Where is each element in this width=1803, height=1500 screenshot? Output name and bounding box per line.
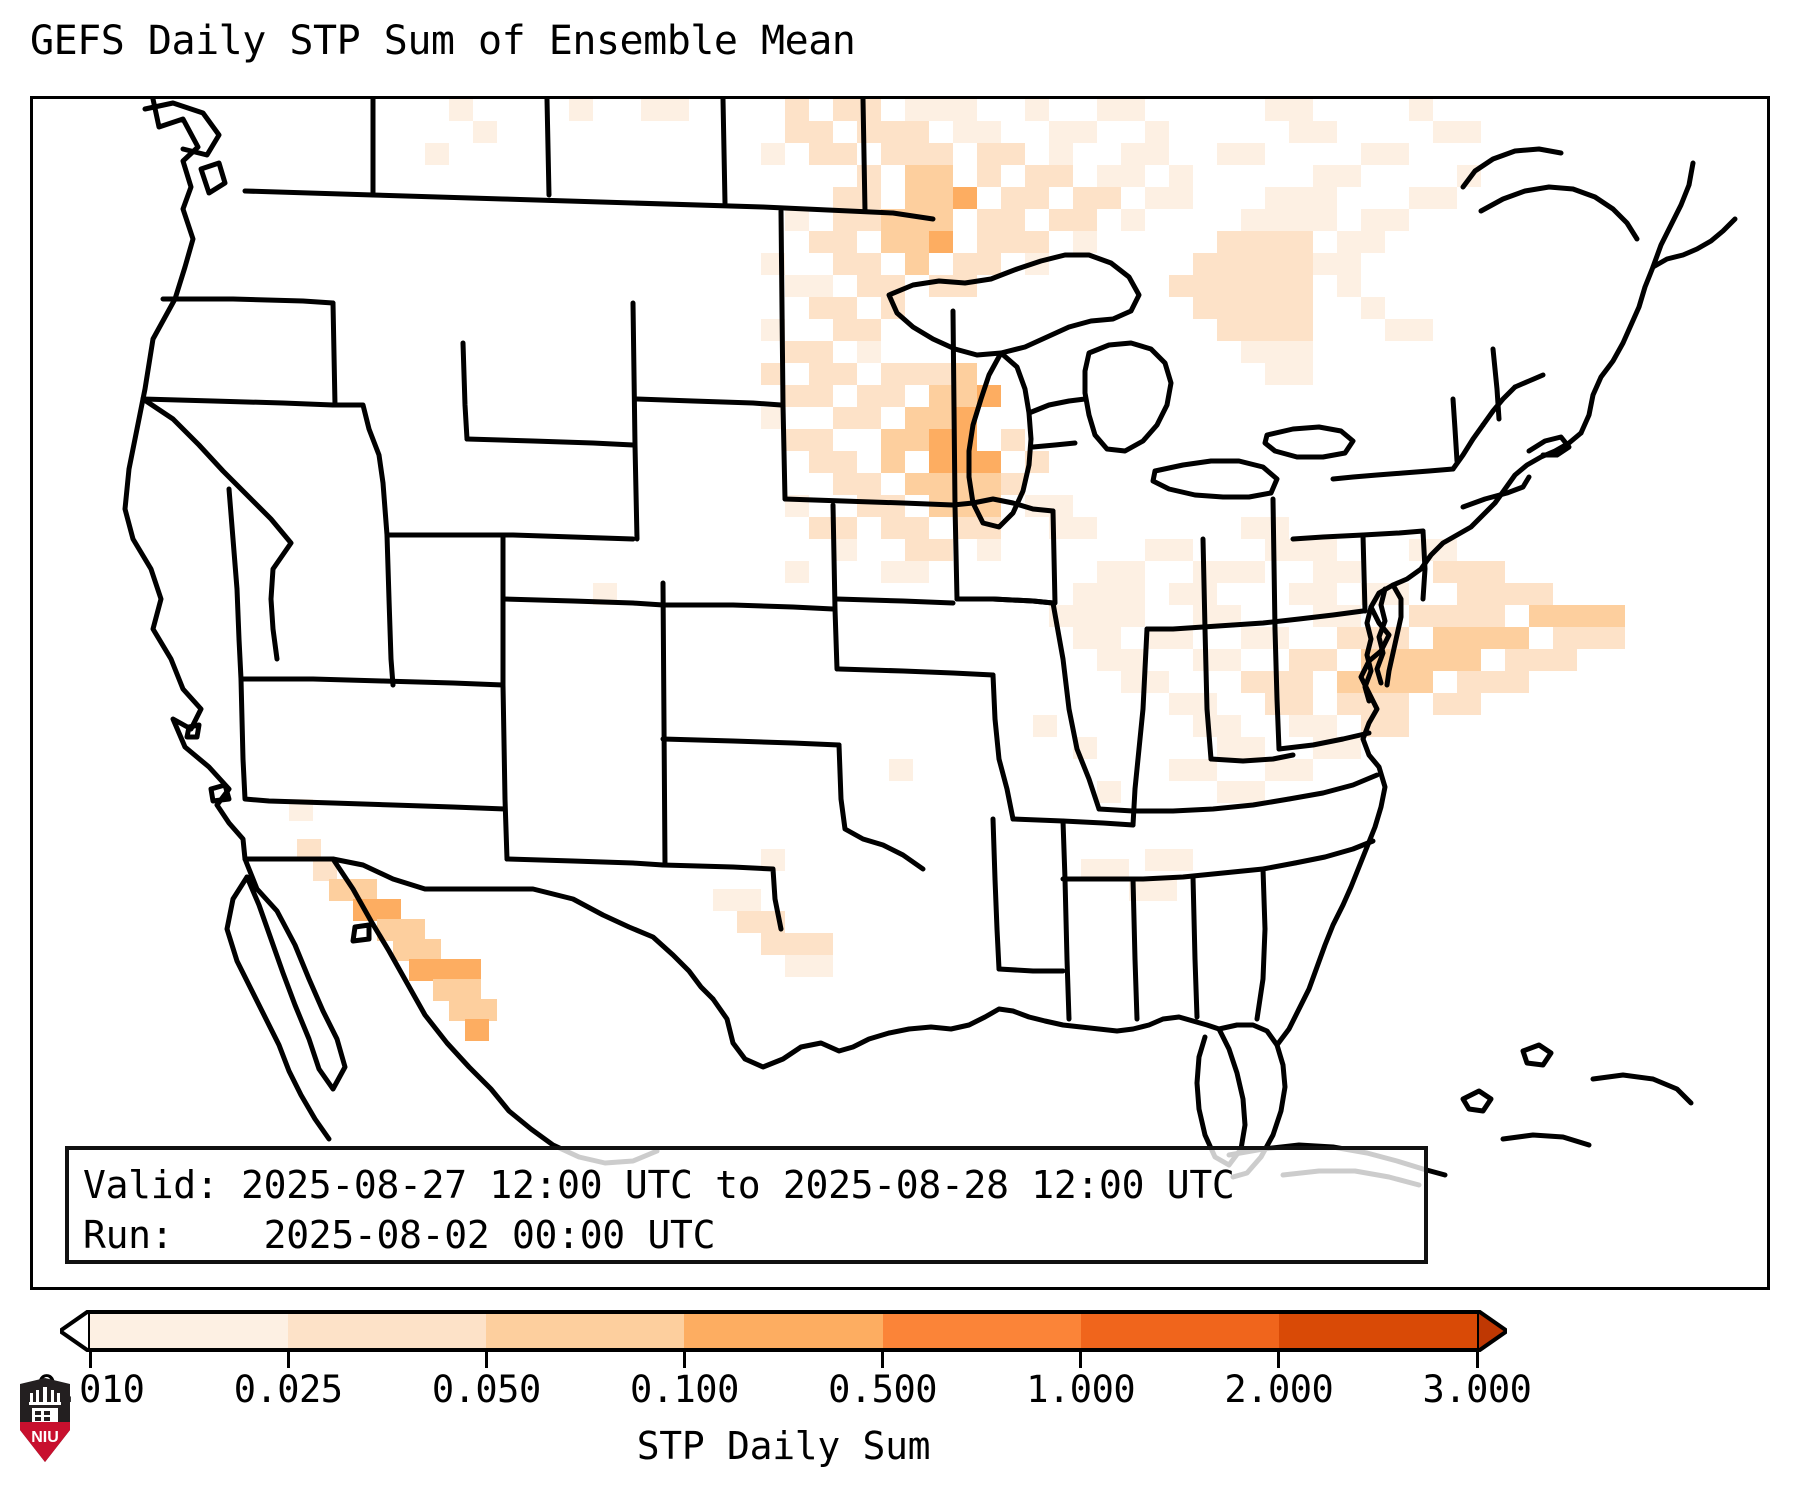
map-inner: Valid: 2025-08-27 12:00 UTC to 2025-08-2… [33, 99, 1767, 1287]
valid-time-line: Valid: 2025-08-27 12:00 UTC to 2025-08-2… [83, 1160, 1424, 1210]
colorbar-band-4 [883, 1314, 1081, 1348]
page-title: GEFS Daily STP Sum of Ensemble Mean [30, 18, 855, 64]
colorbar-tick-label-6: 2.000 [1224, 1368, 1333, 1411]
colorbar-tick-5 [1079, 1352, 1082, 1368]
colorbar-tick-labels: 0.0100.0250.0500.1000.5001.0002.0003.000 [90, 1368, 1477, 1414]
colorbar-tick-label-1: 0.025 [234, 1368, 343, 1411]
colorbar-band-1 [288, 1314, 486, 1348]
colorbar-band-5 [1081, 1314, 1279, 1348]
valid-run-info-box: Valid: 2025-08-27 12:00 UTC to 2025-08-2… [65, 1146, 1428, 1264]
colorbar-tick-1 [287, 1352, 290, 1368]
niu-logo-text: NIU [31, 1429, 59, 1446]
colorbar-band-2 [486, 1314, 684, 1348]
colorbar-band-6 [1279, 1314, 1477, 1348]
colorbar-tick-3 [683, 1352, 686, 1368]
colorbar-tick-label-4: 0.500 [828, 1368, 937, 1411]
colorbar-tick-label-3: 0.100 [630, 1368, 739, 1411]
colorbar-region: 0.0100.0250.0500.1000.5001.0002.0003.000… [0, 1300, 1803, 1500]
colorbar-tick-label-5: 1.000 [1026, 1368, 1135, 1411]
colorbar-tick-0 [89, 1352, 92, 1368]
colorbar-bands [90, 1310, 1477, 1352]
colorbar-band-3 [684, 1314, 882, 1348]
colorbar-over-arrow [1477, 1310, 1507, 1352]
geography-layer [33, 99, 1767, 1287]
colorbar-axis-title: STP Daily Sum [90, 1424, 1477, 1468]
colorbar-band-0 [90, 1314, 288, 1348]
figure-root: GEFS Daily STP Sum of Ensemble Mean [0, 0, 1803, 1500]
colorbar-under-arrow [60, 1310, 90, 1352]
colorbar-tick-2 [485, 1352, 488, 1368]
colorbar-ticks [90, 1352, 1477, 1368]
colorbar-tick-label-7: 3.000 [1423, 1368, 1532, 1411]
niu-logo: NIU [16, 1378, 74, 1463]
map-panel[interactable]: Valid: 2025-08-27 12:00 UTC to 2025-08-2… [30, 96, 1770, 1290]
colorbar-tick-6 [1277, 1352, 1280, 1368]
colorbar-tick-label-2: 0.050 [432, 1368, 541, 1411]
colorbar-tick-7 [1476, 1352, 1479, 1368]
colorbar-tick-4 [881, 1352, 884, 1368]
colorbar[interactable] [60, 1310, 1510, 1352]
run-time-line: Run: 2025-08-02 00:00 UTC [83, 1210, 1424, 1260]
